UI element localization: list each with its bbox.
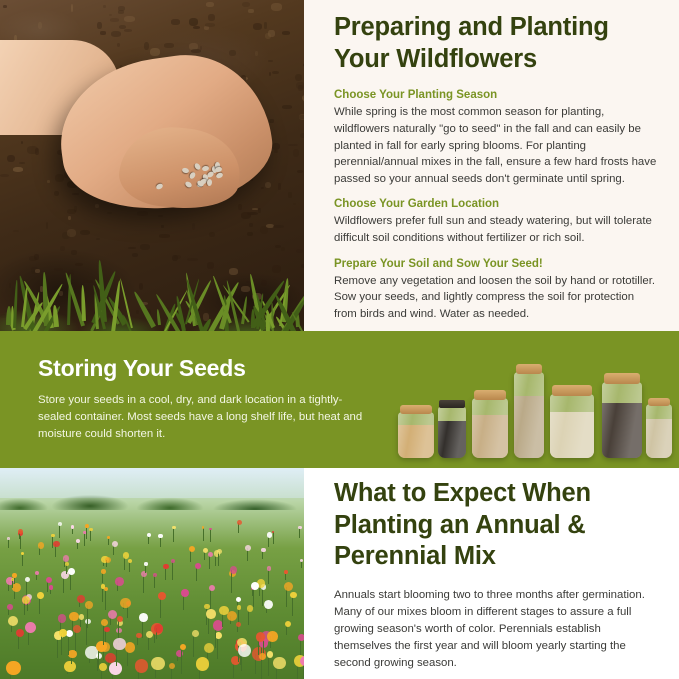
storage-jar [646,404,672,458]
storage-jar [472,398,508,458]
storage-jar [602,382,642,458]
wildflower-meadow-photo [0,468,304,679]
hand-sowing-seeds-photo [0,0,304,331]
jar-cork [552,385,592,396]
page-title: Preparing and Planting Your Wildflowers [334,12,659,75]
storage-jar [438,406,466,458]
subheading-garden-location: Choose Your Garden Location [334,198,659,210]
seed-storage-jars-photo [380,331,679,468]
jar-cork [474,390,506,400]
jar-cork [516,364,542,374]
storage-jar [398,412,434,458]
what-to-expect-body: Annuals start blooming two to three mont… [334,587,657,673]
jar-cork [400,405,432,414]
storing-seeds-title: Storing Your Seeds [38,355,363,382]
flowers-group [0,468,304,679]
section1-text: Preparing and Planting Your Wildflowers … [304,0,679,331]
body-planting-season: While spring is the most common season f… [334,104,659,187]
seeds-group [150,160,230,200]
jar-cork [604,373,640,384]
body-garden-location: Wildflowers prefer full sun and steady w… [334,213,659,246]
storage-jar [514,372,544,458]
storage-jar [550,394,594,458]
section-storing-seeds: Storing Your Seeds Store your seeds in a… [0,331,679,468]
storing-seeds-body: Store your seeds in a cool, dry, and dar… [38,392,363,443]
section-preparing-planting: Preparing and Planting Your Wildflowers … [0,0,679,331]
jar-lid [439,400,465,408]
subheading-prepare-soil: Prepare Your Soil and Sow Your Seed! [334,258,659,270]
infographic-page: Preparing and Planting Your Wildflowers … [0,0,679,679]
body-prepare-soil: Remove any vegetation and loosen the soi… [334,273,659,323]
section3-text: What to Expect When Planting an Annual &… [304,468,679,679]
jar-cork [648,398,670,406]
section-what-to-expect: What to Expect When Planting an Annual &… [0,468,679,679]
subheading-planting-season: Choose Your Planting Season [334,89,659,101]
grass-patch [0,211,304,331]
section2-text: Storing Your Seeds Store your seeds in a… [38,355,363,443]
what-to-expect-title: What to Expect When Planting an Annual &… [334,478,657,573]
